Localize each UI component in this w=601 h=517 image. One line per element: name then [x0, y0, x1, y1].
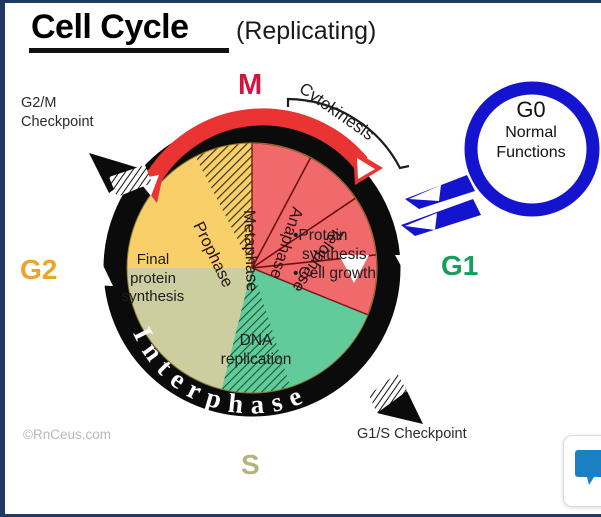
- g2-text-line3: synthesis: [108, 288, 198, 307]
- phase-label-m: M: [238, 69, 262, 102]
- g2m-cp-line2: Checkpoint: [21, 114, 94, 130]
- s-text-line2: replication: [201, 350, 311, 369]
- g1-sector-text: •Protein synthesis •Cell growth: [293, 226, 403, 283]
- phase-label-g1: G1: [441, 250, 478, 282]
- copyright-notice: ©RnCeus.com: [23, 427, 111, 442]
- g0-text-block: G0 Normal Functions: [471, 97, 591, 163]
- diagram-stage: Cell Cycle (Replicating): [5, 3, 601, 514]
- g1s-checkpoint-label: G1/S Checkpoint: [357, 426, 467, 442]
- chat-bubble-icon[interactable]: [564, 436, 601, 506]
- g0-line2: Functions: [471, 143, 591, 163]
- g1-bullet-1: •Protein: [293, 226, 403, 245]
- g0-line1: Normal: [471, 123, 591, 143]
- g2-text-line1: Final: [108, 251, 198, 270]
- g2-text-line2: protein: [108, 270, 198, 289]
- cell-cycle-diagram-page: Cell Cycle (Replicating): [0, 0, 601, 517]
- g1-bullet-1b: synthesis: [293, 245, 403, 264]
- phase-label-s: S: [241, 449, 260, 481]
- s-text-line1: DNA: [201, 331, 311, 350]
- s-sector-text: DNA replication: [201, 331, 311, 369]
- g0-title: G0: [471, 97, 591, 123]
- phase-label-g2: G2: [20, 254, 57, 286]
- g2m-cp-line1: G2/M: [21, 95, 56, 111]
- chat-widget-card[interactable]: [563, 435, 601, 507]
- label-metaphase: Metaphase: [240, 210, 261, 292]
- g2m-checkpoint-label: G2/M Checkpoint: [21, 94, 94, 132]
- g1-bullet-2: •Cell growth: [293, 264, 403, 283]
- g0-connector-arrows: [401, 175, 481, 236]
- g2-sector-text: Final protein synthesis: [108, 251, 198, 307]
- g1s-checkpoint-arrow: [369, 373, 423, 424]
